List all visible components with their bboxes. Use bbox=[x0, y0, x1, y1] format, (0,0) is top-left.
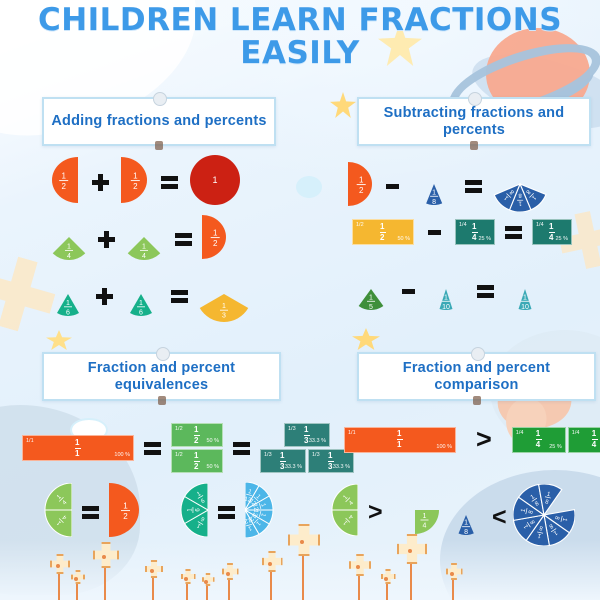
flower-stem bbox=[270, 570, 272, 600]
clip-icon bbox=[155, 141, 163, 150]
svg-text:2: 2 bbox=[133, 182, 138, 191]
fraction-eighths-fan: 181818 bbox=[492, 156, 548, 217]
page-title: CHILDREN LEARN FRACTIONS EASILY bbox=[0, 4, 600, 70]
bar-stack-thirds: 1/31333.3 %1/31333.3 %1/31333.3 % bbox=[260, 423, 354, 473]
equation-row-adding-3: 161613 bbox=[46, 266, 252, 327]
operator-equals bbox=[505, 226, 522, 239]
percent-bar-tile: 1/31333.3 % bbox=[260, 449, 306, 473]
bar-bottom-label: 50 % bbox=[397, 236, 410, 242]
bar-fraction-label: 14 bbox=[536, 430, 542, 449]
pinwheel-flower-icon bbox=[262, 551, 283, 572]
operator-greater-than: > bbox=[368, 500, 383, 525]
flower-center bbox=[226, 572, 230, 576]
flower-stem bbox=[104, 566, 106, 600]
bar-bottom-label: 50 % bbox=[206, 464, 219, 470]
bar-top-label: 1/1 bbox=[26, 438, 34, 444]
percent-bar-tile: 1/41425 % bbox=[568, 427, 600, 453]
pinwheel-flower-icon bbox=[381, 569, 396, 584]
svg-text:1: 1 bbox=[369, 294, 373, 301]
fraction-eighths-fan: 18181818181818 bbox=[513, 484, 575, 551]
flower-stem bbox=[228, 578, 230, 600]
cloud-icon bbox=[296, 176, 322, 198]
svg-text:6: 6 bbox=[66, 309, 70, 316]
section-header-adding-label: Adding fractions and percents bbox=[51, 113, 266, 129]
bar-top-label: 1/2 bbox=[175, 426, 183, 432]
bar-fraction-label: 11 bbox=[75, 439, 81, 458]
svg-text:1: 1 bbox=[123, 502, 128, 511]
fraction-half-split-twelfths: 112112112112112112 bbox=[245, 482, 277, 543]
pinwheel-flower-icon bbox=[71, 570, 85, 584]
svg-text:1: 1 bbox=[359, 176, 364, 185]
section-header-comparison-label: Fraction and percent comparison bbox=[359, 360, 594, 392]
section-header-equivalences: Fraction and percent equivalences bbox=[42, 352, 281, 401]
star-icon bbox=[330, 92, 356, 118]
percent-bar-tile: 1/41425 % bbox=[512, 427, 566, 453]
bar-stack-halves: 1/21250 %1/21250 % bbox=[171, 423, 223, 473]
equation-row-equivalences-2a: 141412 bbox=[42, 483, 139, 542]
svg-text:8: 8 bbox=[464, 529, 468, 535]
operator-greater-than: > bbox=[476, 426, 492, 453]
operator-equals bbox=[161, 176, 178, 189]
operator-less-than: < bbox=[492, 505, 507, 530]
equation-row-subtracting-1: 1218181818 bbox=[348, 156, 548, 217]
fraction-half-right: 12 bbox=[121, 157, 147, 208]
flower-center bbox=[300, 540, 304, 544]
svg-text:4: 4 bbox=[67, 253, 71, 260]
flower-stem bbox=[386, 582, 388, 600]
flower-stem bbox=[410, 562, 412, 600]
svg-text:1: 1 bbox=[212, 175, 217, 185]
section-header-comparison: Fraction and percent comparison bbox=[357, 352, 596, 401]
bar-top-label: 1/1 bbox=[348, 430, 356, 436]
svg-text:1: 1 bbox=[444, 294, 448, 301]
bar-top-label: 1/4 bbox=[572, 430, 580, 436]
flower-center bbox=[184, 577, 188, 581]
svg-text:12: 12 bbox=[245, 516, 252, 524]
flower-center bbox=[102, 555, 106, 559]
svg-text:10: 10 bbox=[442, 304, 450, 310]
pinwheel-flower-icon bbox=[222, 563, 239, 580]
bar-fraction-label: 14 bbox=[472, 223, 478, 242]
bar-fraction-label: 14 bbox=[549, 223, 555, 242]
svg-text:1: 1 bbox=[139, 300, 143, 307]
operator-minus bbox=[386, 184, 399, 189]
section-header-subtracting: Subtracting fractions and percents bbox=[357, 97, 591, 146]
bar-top-label: 1/4 bbox=[459, 222, 467, 228]
svg-text:3: 3 bbox=[222, 313, 226, 320]
flower-stem bbox=[58, 572, 60, 600]
svg-text:5: 5 bbox=[369, 304, 373, 310]
pin-icon bbox=[468, 92, 482, 106]
bar-top-label: 1/4 bbox=[516, 430, 524, 436]
operator-equals bbox=[144, 442, 161, 455]
pinwheel-flower-icon bbox=[181, 569, 196, 584]
svg-text:1: 1 bbox=[222, 303, 226, 310]
bar-fraction-label: 14 bbox=[592, 430, 598, 449]
pinwheel-flower-icon bbox=[349, 554, 371, 576]
bar-bottom-label: 25 % bbox=[555, 236, 568, 242]
flower-center bbox=[268, 562, 272, 566]
fraction-whole-circle: 1 bbox=[190, 155, 240, 210]
flower-stem bbox=[358, 574, 360, 600]
operator-plus bbox=[96, 288, 113, 305]
flower-center bbox=[450, 572, 454, 576]
fraction-sixth-wedge: 16 bbox=[46, 272, 90, 321]
equation-row-comparison-2: 1414>14 bbox=[330, 484, 439, 541]
bar-top-label: 1/2 bbox=[175, 452, 183, 458]
flower-center bbox=[204, 580, 208, 584]
operator-equals bbox=[233, 442, 250, 455]
percent-bar-tile: 1/41425 % bbox=[455, 219, 495, 245]
flower-center bbox=[356, 565, 360, 569]
section-header-adding: Adding fractions and percents bbox=[42, 97, 276, 146]
flower-center bbox=[408, 549, 412, 553]
fraction-half-right: 12 bbox=[348, 162, 372, 211]
pinwheel-flower-icon bbox=[288, 524, 320, 556]
bar-fraction-label: 12 bbox=[194, 426, 200, 445]
fraction-half-split-sixths: 161616 bbox=[178, 483, 208, 542]
section-header-subtracting-label: Subtracting fractions and percents bbox=[359, 105, 589, 137]
svg-text:8: 8 bbox=[432, 199, 436, 205]
bar-bottom-label: 100 % bbox=[114, 452, 130, 458]
fraction-half-right: 12 bbox=[109, 483, 139, 542]
pinwheel-flower-icon bbox=[50, 554, 70, 574]
svg-text:1: 1 bbox=[142, 243, 146, 250]
equation-row-adding-1: 12121 bbox=[52, 155, 240, 210]
equation-row-subtracting-2: 1/21250 %1/41425 %1/41425 % bbox=[352, 219, 572, 245]
svg-text:2: 2 bbox=[123, 512, 128, 521]
operator-equals bbox=[171, 290, 188, 303]
operator-equals bbox=[175, 233, 192, 246]
fraction-half-right: 12 bbox=[202, 215, 226, 264]
flower-stem bbox=[302, 554, 304, 600]
operator-plus bbox=[98, 231, 115, 248]
percent-bar-tile: 1/111100 % bbox=[22, 435, 134, 461]
svg-text:4: 4 bbox=[422, 523, 426, 530]
bar-top-label: 1/2 bbox=[356, 222, 364, 228]
svg-text:1: 1 bbox=[133, 172, 138, 181]
svg-text:2: 2 bbox=[213, 239, 218, 248]
clip-icon bbox=[473, 396, 481, 405]
fraction-third-wedge: 13 bbox=[196, 266, 252, 327]
bar-top-label: 1/3 bbox=[312, 452, 320, 458]
equation-row-adding-2: 141412 bbox=[46, 214, 226, 265]
bar-bottom-label: 100 % bbox=[436, 444, 452, 450]
fraction-quarter-wedge: 14 bbox=[46, 214, 92, 265]
equation-row-comparison-3: 18<18181818181818 bbox=[446, 484, 575, 551]
bar-bottom-label: 25 % bbox=[478, 236, 491, 242]
svg-text:1: 1 bbox=[464, 520, 468, 527]
bar-top-label: 1/3 bbox=[288, 426, 296, 432]
percent-bar-tile: 1/41425 % bbox=[532, 219, 572, 245]
clip-icon bbox=[158, 396, 166, 405]
fraction-half-split-quarters: 1414 bbox=[330, 484, 358, 541]
flower-center bbox=[384, 577, 388, 581]
svg-text:4: 4 bbox=[142, 253, 146, 260]
flower-stem bbox=[452, 578, 454, 600]
pinwheel-flower-icon bbox=[93, 542, 119, 568]
fraction-sixth-wedge: 16 bbox=[119, 272, 163, 321]
poster-canvas: CHILDREN LEARN FRACTIONS EASILY Adding f… bbox=[0, 0, 600, 600]
operator-minus bbox=[402, 289, 415, 294]
operator-equals bbox=[82, 506, 99, 519]
fraction-half-split-quarters: 1414 bbox=[42, 483, 72, 542]
svg-text:10: 10 bbox=[521, 304, 529, 310]
fraction-fifth-wedge: 15 bbox=[350, 268, 392, 315]
flower-center bbox=[74, 577, 78, 581]
percent-bar-tile: 1/31333.3 % bbox=[284, 423, 330, 447]
bar-fraction-label: 12 bbox=[194, 452, 200, 471]
svg-text:1: 1 bbox=[432, 189, 436, 196]
percent-bar-tile: 1/111100 % bbox=[344, 427, 456, 453]
svg-text:1: 1 bbox=[66, 300, 70, 307]
fraction-eighth-wedge: 18 bbox=[446, 495, 486, 540]
equation-row-equivalences-2b: 161616112112112112112112 bbox=[178, 482, 277, 543]
flower-stem bbox=[206, 584, 208, 600]
operator-equals bbox=[218, 506, 235, 519]
bar-bottom-label: 33.3 % bbox=[333, 464, 350, 470]
percent-bar-tile: 1/21250 % bbox=[171, 423, 223, 447]
bar-bottom-label: 25 % bbox=[549, 444, 562, 450]
star-icon bbox=[352, 328, 380, 350]
bar-top-label: 1/3 bbox=[264, 452, 272, 458]
svg-text:1: 1 bbox=[213, 229, 218, 238]
flower-center bbox=[150, 569, 154, 573]
bar-fraction-label: 11 bbox=[397, 430, 403, 449]
flower-stem bbox=[76, 582, 78, 600]
percent-bar-tile: 1/21250 % bbox=[171, 449, 223, 473]
operator-equals bbox=[465, 180, 482, 193]
bar-bottom-label: 33.3 % bbox=[285, 464, 302, 470]
equation-row-comparison-1: 1/111100 %>1/41425 %1/41425 % bbox=[344, 426, 600, 453]
operator-equals bbox=[477, 285, 494, 298]
fraction-quarter-wedge: 14 bbox=[391, 486, 439, 539]
svg-text:1: 1 bbox=[61, 172, 66, 181]
pin-icon bbox=[156, 347, 170, 361]
svg-text:2: 2 bbox=[61, 182, 66, 191]
operator-plus bbox=[92, 174, 109, 191]
bar-bottom-label: 33.3 % bbox=[309, 438, 326, 444]
fraction-quarter-wedge: 14 bbox=[121, 214, 167, 265]
fraction-tenth-wedge: 110 bbox=[425, 268, 467, 315]
svg-text:1: 1 bbox=[67, 243, 71, 250]
flower-center bbox=[56, 564, 60, 568]
pinwheel-flower-icon bbox=[145, 560, 163, 578]
pinwheel-flower-icon bbox=[446, 563, 463, 580]
bar-top-label: 1/4 bbox=[536, 222, 544, 228]
clip-icon bbox=[470, 141, 478, 150]
flower-stem bbox=[186, 582, 188, 600]
svg-text:1: 1 bbox=[422, 513, 426, 520]
bar-pair-quarters: 1/41425 %1/41425 % bbox=[512, 427, 600, 453]
svg-text:6: 6 bbox=[139, 309, 143, 316]
section-header-equivalences-label: Fraction and percent equivalences bbox=[44, 360, 279, 392]
svg-text:1: 1 bbox=[523, 294, 527, 301]
fraction-eighth-wedge: 18 bbox=[413, 163, 455, 210]
fraction-half-left: 12 bbox=[52, 157, 78, 208]
pin-icon bbox=[471, 347, 485, 361]
equation-row-subtracting-3: 15110110 bbox=[350, 268, 546, 315]
percent-bar-tile: 1/21250 % bbox=[352, 219, 414, 245]
fraction-tenth-wedge: 110 bbox=[504, 268, 546, 315]
bar-bottom-label: 50 % bbox=[206, 438, 219, 444]
equation-row-equivalences-1: 1/111100 %1/21250 %1/21250 %1/31333.3 %1… bbox=[22, 423, 354, 473]
pinwheel-flower-icon bbox=[202, 573, 215, 586]
bar-fraction-label: 12 bbox=[380, 223, 386, 242]
flower-stem bbox=[152, 576, 154, 600]
pin-icon bbox=[153, 92, 167, 106]
star-icon bbox=[46, 330, 72, 350]
svg-text:2: 2 bbox=[359, 186, 364, 195]
operator-minus bbox=[428, 230, 441, 235]
